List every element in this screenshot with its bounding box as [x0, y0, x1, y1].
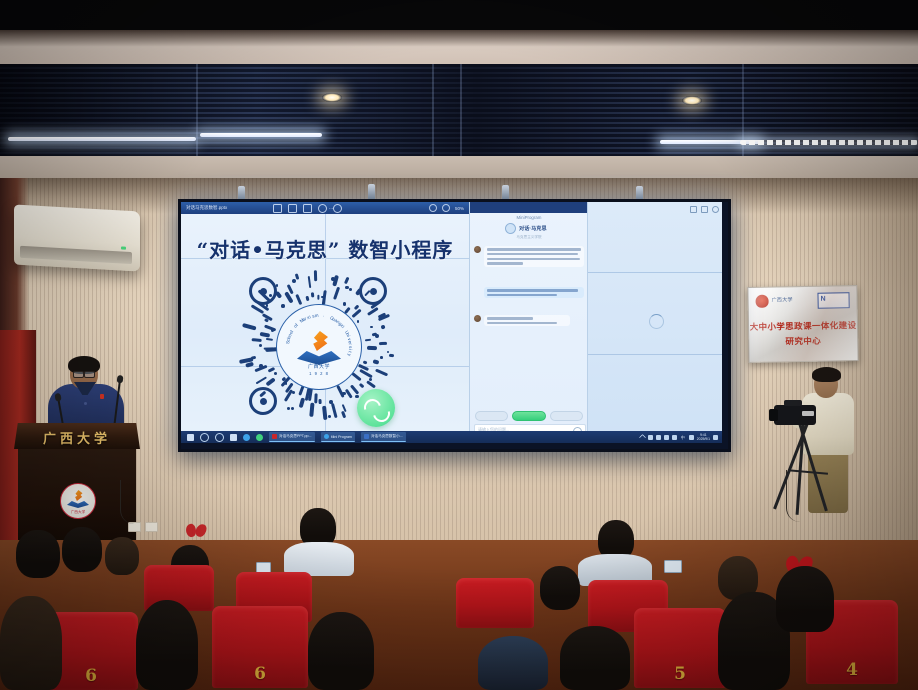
avatar — [474, 246, 481, 253]
qr-module — [291, 407, 294, 410]
panel-seam — [588, 272, 722, 273]
qr-module — [307, 276, 311, 288]
camera-label — [802, 411, 814, 416]
chat-action-row[interactable] — [475, 411, 583, 421]
slide-canvas: “对话•马克思” 数智小程序 School of Marxism · Guang… — [181, 214, 469, 431]
air-conditioner — [14, 204, 140, 271]
close-icon[interactable] — [712, 206, 719, 213]
loading-spinner-icon — [649, 314, 664, 329]
qr-logo-year: 1 9 2 8 — [277, 371, 361, 376]
panel-seam — [588, 354, 722, 355]
torch-flame-icon — [74, 490, 83, 501]
lecture-hall-photo: 广西大学 N 大中小学思政课一体化建设 研究中心 对话马克思数智.pptx — [0, 0, 918, 690]
laser-icon[interactable] — [333, 204, 342, 213]
research-center-sign: 广西大学 N 大中小学思政课一体化建设 研究中心 — [747, 285, 858, 363]
end-conversation-button[interactable] — [550, 411, 583, 421]
qr-module — [242, 323, 257, 330]
qr-module — [363, 360, 368, 365]
wall-socket — [145, 522, 158, 532]
display-content[interactable]: 对话马克思数智.pptx ... 50% — [181, 202, 722, 443]
audience-head — [560, 626, 630, 690]
hair-bow — [186, 524, 206, 537]
qr-ring-char: y — [347, 353, 352, 356]
notifications-icon[interactable] — [713, 435, 718, 440]
open-book-icon — [67, 501, 89, 508]
taskbar-app-label: 对话马克思数智小... — [371, 434, 403, 439]
cortana-icon[interactable] — [215, 433, 224, 442]
qr-module — [389, 354, 394, 358]
taskbar-clock[interactable]: 9:41 2025/9/1 — [697, 433, 710, 441]
qr-module — [285, 292, 294, 304]
qr-module — [266, 377, 276, 386]
miniprogram-qr-code: School of Marxism · Guangxi University 广… — [243, 271, 393, 421]
ceiling-dark-edge — [0, 0, 918, 34]
qr-module — [332, 403, 338, 418]
qr-module — [370, 326, 372, 328]
minimize-icon[interactable] — [690, 206, 697, 213]
qr-module — [311, 292, 315, 298]
battery-icon[interactable] — [689, 435, 694, 440]
chat-app-name: 对话·马克思 — [519, 225, 547, 232]
window-controls[interactable] — [690, 206, 719, 213]
qr-module — [292, 279, 296, 283]
audience-phone — [664, 560, 682, 573]
app-logo-icon — [505, 223, 516, 234]
qr-module — [287, 407, 290, 410]
clock-date: 2025/9/1 — [697, 437, 710, 441]
qr-module — [306, 296, 310, 301]
qr-module — [341, 411, 346, 419]
qr-module — [379, 342, 387, 345]
qr-module — [259, 344, 262, 347]
qr-module — [314, 270, 318, 281]
qr-module — [246, 362, 254, 368]
qr-module — [319, 399, 322, 404]
qr-module — [345, 286, 348, 289]
qr-ring-char — [320, 313, 321, 318]
qr-module — [355, 395, 359, 399]
videographer-hair — [812, 367, 841, 382]
qr-module — [252, 338, 262, 342]
qr-module — [372, 360, 379, 365]
chat-message — [474, 246, 584, 267]
qr-eye-icon — [249, 277, 277, 305]
qr-module — [264, 324, 277, 332]
regenerate-button[interactable] — [475, 411, 508, 421]
qr-eye-icon — [249, 387, 277, 415]
audience-head — [62, 527, 102, 572]
power-cable — [120, 480, 143, 524]
lectern-name-plate: 广西大学 — [14, 428, 140, 447]
audience-head — [478, 636, 548, 690]
qr-module — [271, 328, 275, 332]
onedrive-icon[interactable] — [664, 435, 669, 440]
chat-message — [474, 315, 584, 326]
qr-module — [333, 287, 340, 300]
auditorium-seat: 5 — [634, 608, 726, 688]
qr-module — [292, 391, 295, 394]
ceiling-downlight — [682, 96, 702, 105]
qr-module — [322, 405, 327, 419]
audience-shoulders — [284, 542, 354, 576]
wechat-miniprogram-icon — [357, 389, 395, 427]
taskbar-app-powerpoint[interactable]: 对话马克思PPT.pp... — [269, 432, 315, 442]
avatar — [474, 315, 481, 322]
message-bubble — [484, 246, 584, 267]
qr-ring-char: i — [348, 349, 353, 350]
tripod-brace — [788, 469, 828, 474]
qr-module — [344, 276, 349, 284]
seat-number: 5 — [674, 664, 686, 684]
qr-module — [365, 339, 372, 342]
audience-head — [308, 612, 374, 690]
ppt-zoom-level[interactable]: 50% — [455, 206, 464, 211]
qr-module — [367, 380, 377, 388]
seat-number: 6 — [85, 666, 97, 686]
ppt-more-icon[interactable]: ... — [329, 205, 333, 211]
chat-message — [484, 287, 584, 298]
qr-module — [331, 277, 335, 281]
audience-head — [136, 600, 198, 690]
qr-ring-char: r — [348, 343, 353, 345]
audience-head — [540, 566, 580, 610]
ceiling-light-tube — [8, 137, 196, 141]
network-icon[interactable] — [648, 435, 653, 440]
chat-app-identity: 对话·马克思 — [505, 223, 547, 234]
slide-title: “对话•马克思” 数智小程序 — [181, 234, 469, 263]
chat-status-bar — [470, 202, 588, 213]
seat-number: 4 — [846, 660, 858, 680]
app-icon — [272, 434, 277, 439]
auditorium-seat: 6 — [212, 606, 308, 688]
qr-module — [349, 288, 352, 291]
system-tray[interactable]: 中 9:41 2025/9/1 — [640, 433, 718, 441]
search-icon[interactable] — [200, 433, 209, 442]
qr-module — [314, 393, 317, 403]
videographer — [786, 365, 876, 535]
chat-header-hint: MiniProgram — [470, 215, 588, 220]
qr-module — [310, 403, 315, 417]
ac-indicator-led — [121, 246, 126, 249]
miniprogram-chat-panel[interactable]: MiniProgram 对话·马克思 马克思主义学院 — [469, 202, 588, 443]
qr-module — [380, 356, 383, 359]
zoom-out-icon[interactable] — [442, 204, 450, 212]
sign-glare — [748, 286, 857, 362]
qr-module — [375, 369, 388, 377]
wechat-icon[interactable] — [256, 434, 263, 441]
ceiling-light-tube — [740, 140, 918, 145]
lapel-pin — [100, 394, 104, 399]
message-bubble-highlight — [484, 287, 584, 298]
qr-module — [367, 346, 377, 350]
audience-head — [0, 596, 62, 690]
camera-lens-icon — [769, 409, 778, 421]
auditorium-seat — [456, 578, 534, 628]
taskbar-app-explorer[interactable]: 对话马克思数智小... — [361, 432, 406, 442]
message-bubble — [484, 315, 570, 326]
app-icon — [364, 434, 369, 439]
windows-taskbar[interactable]: 对话马克思PPT.pp... Mini Program 对话马克思数智小... … — [181, 431, 722, 443]
qr-module — [321, 296, 324, 299]
qr-module — [380, 325, 385, 330]
qr-module — [266, 337, 273, 340]
pen-icon[interactable] — [273, 204, 282, 213]
emblem-text: 广西大学 — [61, 510, 95, 515]
audience-head — [105, 537, 139, 575]
ac-vent — [20, 246, 132, 264]
qr-module — [317, 294, 319, 299]
ceiling-divider — [460, 64, 462, 159]
powerpoint-window[interactable]: 对话马克思数智.pptx ... 50% — [181, 202, 469, 443]
ime-indicator[interactable]: 中 — [680, 435, 686, 440]
eraser-icon[interactable] — [303, 204, 312, 213]
seat-number: 6 — [254, 664, 266, 684]
ppt-view-controls[interactable]: 50% — [429, 204, 464, 212]
qr-module — [345, 388, 353, 398]
chat-subtitle: 马克思主义学院 — [470, 235, 588, 240]
minimize-icon[interactable] — [429, 204, 437, 212]
ceiling-downlight — [322, 93, 342, 102]
windows-start-icon[interactable] — [187, 434, 194, 441]
qr-module — [308, 388, 313, 401]
ceiling-divider — [432, 64, 434, 159]
audience-head — [776, 566, 834, 632]
qr-module — [254, 365, 268, 373]
qr-ring-char — [317, 313, 319, 318]
shirt-button — [84, 402, 87, 405]
lectern-top: 广西大学 — [14, 423, 140, 449]
qr-eye-icon — [359, 277, 387, 305]
qr-center-logo: School of Marxism · Guangxi University 广… — [276, 304, 362, 390]
camera-handle — [784, 400, 802, 406]
qr-module — [295, 294, 302, 305]
qr-module — [328, 415, 331, 418]
secondary-window-panel[interactable] — [587, 202, 722, 443]
ppt-title-bar: 对话马克思数智.pptx ... 50% — [181, 202, 469, 214]
ceiling-divider — [196, 64, 198, 159]
task-view-icon[interactable] — [230, 434, 237, 441]
taskbar-app-label: 对话马克思PPT.pp... — [279, 434, 312, 439]
ceiling-light-tube — [200, 133, 322, 137]
bluetooth-icon[interactable] — [672, 435, 677, 440]
app-icon — [324, 434, 329, 439]
edge-icon[interactable] — [243, 434, 250, 441]
highlighter-icon[interactable] — [288, 204, 297, 213]
taskbar-app-label: Mini Program — [331, 435, 352, 439]
ppt-filename: 对话马克思数智.pptx — [186, 205, 227, 211]
video-camera — [774, 405, 816, 425]
university-emblem-icon: 广西大学 — [60, 483, 96, 519]
tripod — [780, 423, 836, 515]
glasses-icon — [73, 371, 95, 376]
audience-head — [16, 530, 60, 578]
continue-button[interactable] — [512, 411, 545, 421]
qr-module — [369, 378, 372, 381]
maximize-icon[interactable] — [701, 206, 708, 213]
taskbar-app-miniprogram[interactable]: Mini Program — [321, 432, 355, 442]
qr-logo-cn-name: 广西大学 — [277, 363, 361, 370]
volume-icon[interactable] — [656, 435, 661, 440]
chevron-up-icon[interactable] — [639, 433, 646, 440]
shape-icon[interactable] — [318, 204, 327, 213]
